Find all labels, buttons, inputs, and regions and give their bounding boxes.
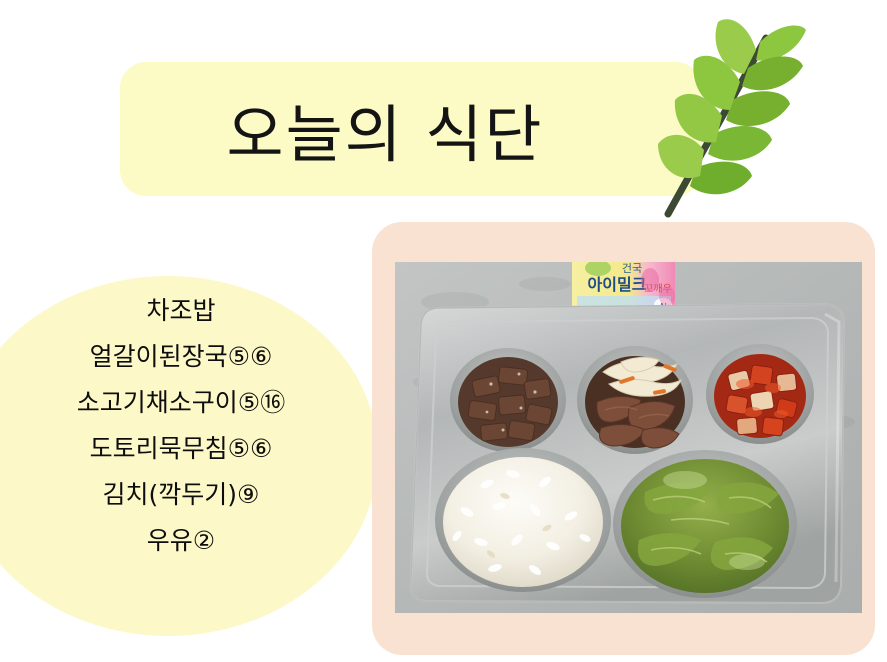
acorn-jelly-compartment bbox=[450, 348, 566, 452]
menu-poster: 오늘의 식단 차조밥 얼갈이된장국⑤⑥ 소고기채소구이⑤⑯ 도토리묵무침⑤⑥ 김… bbox=[0, 0, 887, 662]
rice-compartment bbox=[435, 448, 611, 592]
radish-kimchi-compartment bbox=[706, 344, 814, 444]
lunch-tray-photo: 건국 아이밀크 꼬깨우 AI bbox=[395, 262, 862, 613]
menu-item-sogogi-chaeso-gui: 소고기채소구이⑤⑯ bbox=[77, 388, 285, 418]
menu-item-chajobap: 차조밥 bbox=[146, 296, 215, 326]
menu-list: 차조밥 얼갈이된장국⑤⑥ 소고기채소구이⑤⑯ 도토리묵무침⑤⑥ 김치(깍두기)⑨… bbox=[0, 296, 362, 556]
page-title: 오늘의 식단 bbox=[120, 62, 650, 196]
beef-grill-compartment bbox=[577, 346, 693, 454]
soup-compartment bbox=[613, 450, 797, 598]
menu-item-dotorimuk-muchim: 도토리묵무침⑤⑥ bbox=[90, 434, 273, 464]
leaf-branch-icon bbox=[648, 16, 808, 221]
svg-text:아이밀크: 아이밀크 bbox=[588, 275, 647, 294]
menu-item-kimchi-kkakdugi: 김치(깍두기)⑨ bbox=[103, 480, 260, 510]
menu-item-eolgari-doenjangguk: 얼갈이된장국⑤⑥ bbox=[90, 342, 273, 372]
menu-item-milk: 우유② bbox=[147, 526, 215, 556]
milk-carton: 건국 아이밀크 꼬깨우 AI bbox=[572, 262, 675, 312]
svg-text:건국: 건국 bbox=[622, 262, 642, 275]
